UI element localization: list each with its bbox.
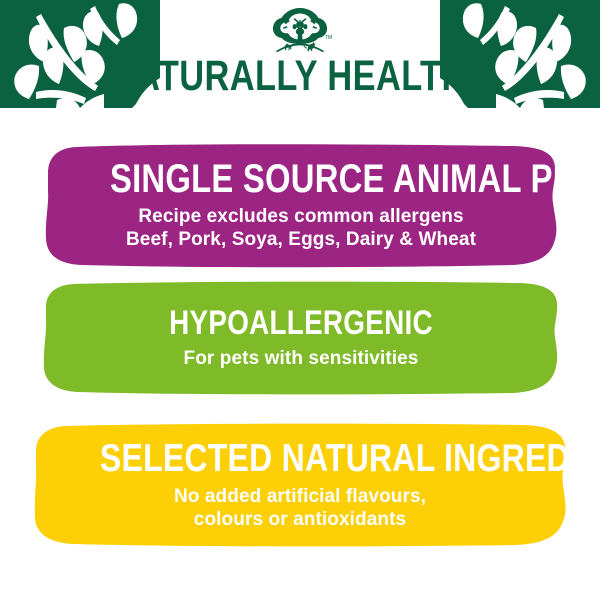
tree-paw-cat-dog-logo: TM	[263, 6, 337, 54]
banner-content: SELECTED NATURAL INGREDIENTS No added ar…	[30, 439, 570, 531]
banner-subtitle-line2: Beef, Pork, Soya, Eggs, Dairy & Wheat	[68, 228, 534, 251]
banner-subtitle-line1: Recipe excludes common allergens	[68, 205, 534, 228]
banner-content: SINGLE SOURCE ANIMAL PROTEIN Recipe excl…	[42, 159, 560, 251]
page-title: NATURALLY HEALTHY	[60, 52, 540, 100]
banner-subtitle-line1: For pets with sensitivities	[68, 347, 534, 370]
banner-selected-natural-ingredients: SELECTED NATURAL INGREDIENTS No added ar…	[30, 423, 570, 547]
banner-single-source-animal-protein: SINGLE SOURCE ANIMAL PROTEIN Recipe excl…	[42, 143, 560, 268]
banner-title: SELECTED NATURAL INGREDIENTS	[100, 439, 500, 479]
trademark-text: TM	[325, 35, 332, 41]
banner-content: HYPOALLERGENIC For pets with sensitiviti…	[42, 306, 560, 371]
banner-subtitle-line1: No added artificial flavours,	[56, 485, 544, 508]
header-banner: TM NATURALLY HEALTHY	[0, 0, 600, 118]
banner-title: HYPOALLERGENIC	[110, 306, 492, 341]
banner-subtitle-line2: colours or antioxidants	[56, 508, 544, 531]
infographic-page: TM NATURALLY HEALTHY SINGLE SOURCE ANIMA…	[0, 0, 600, 600]
banner-hypoallergenic: HYPOALLERGENIC For pets with sensitiviti…	[42, 281, 560, 395]
banner-title: SINGLE SOURCE ANIMAL PROTEIN	[110, 159, 492, 200]
